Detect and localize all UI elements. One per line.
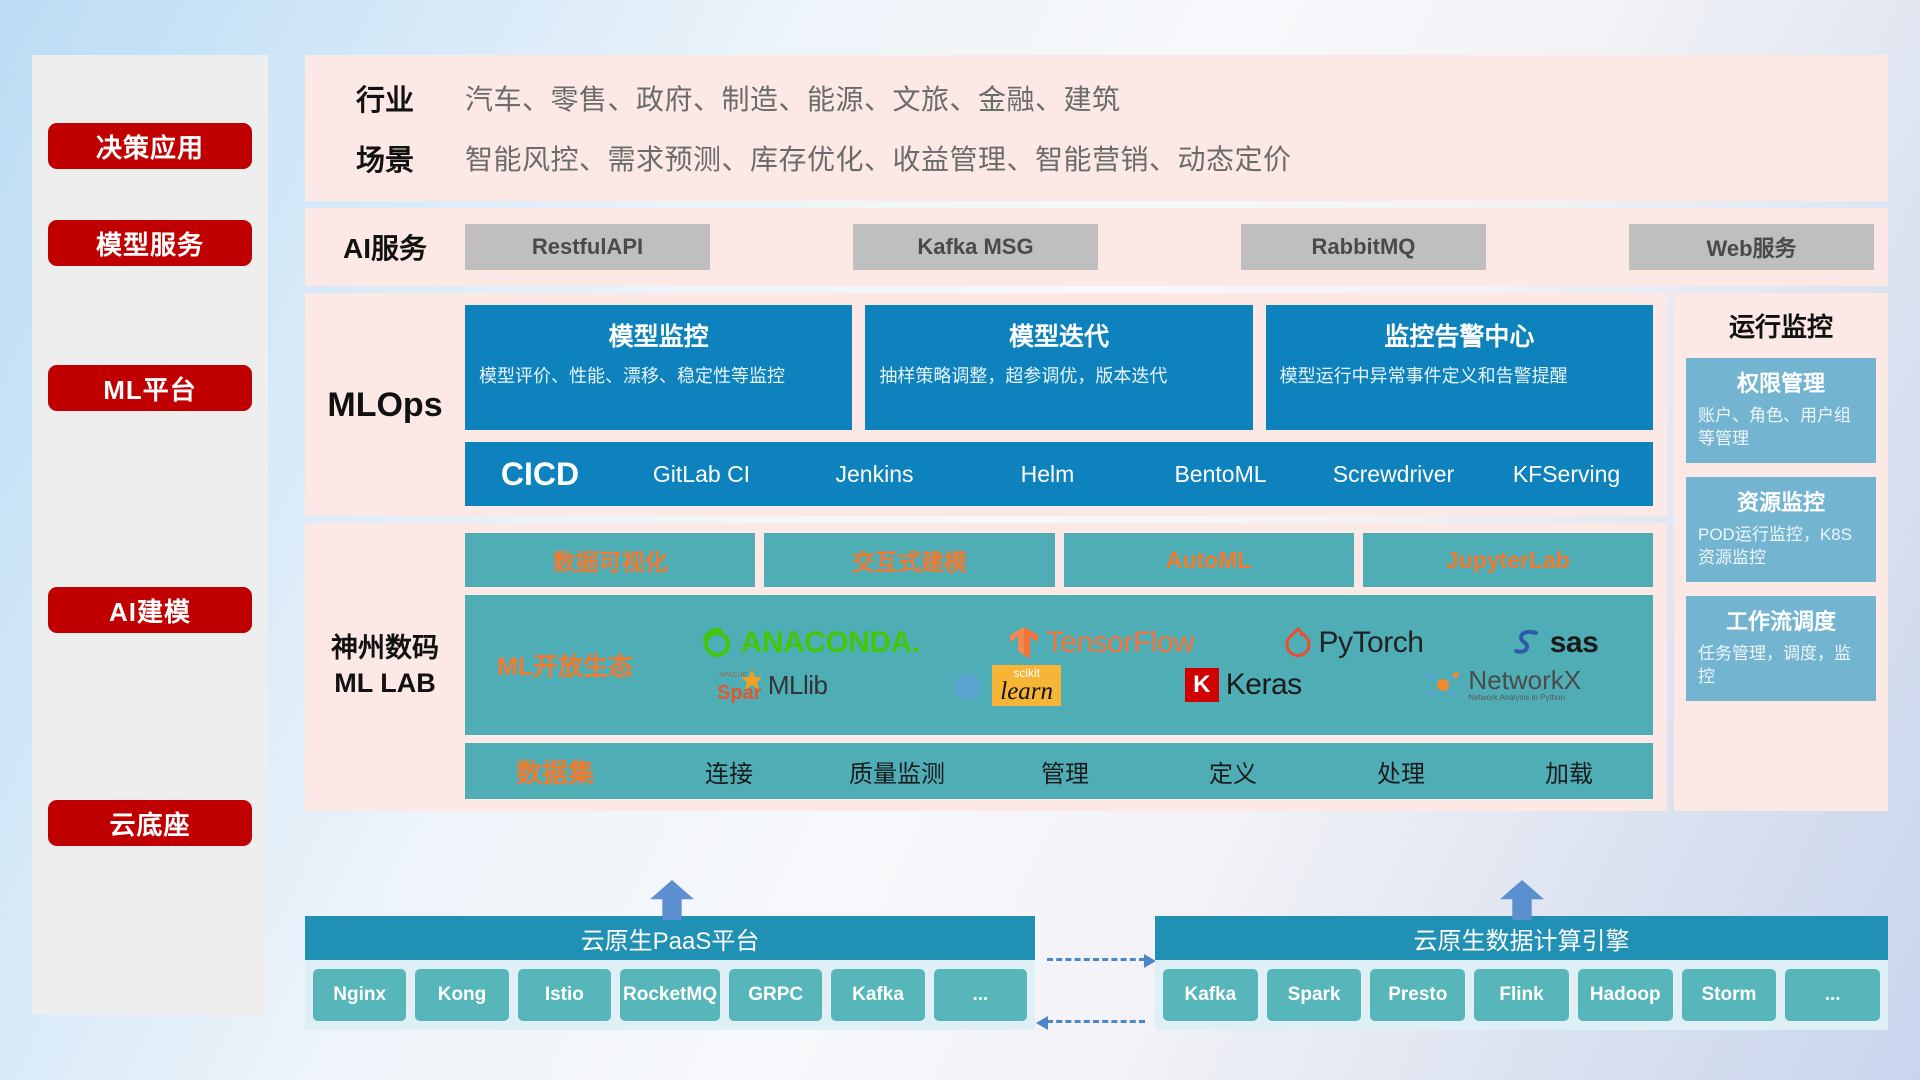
monitor-card-resource[interactable]: 资源监控 POD运行监控，K8S资源监控 <box>1686 477 1876 582</box>
cicd-bar: CICD GitLab CI Jenkins Helm BentoML Scre… <box>465 442 1653 506</box>
ai-service-chip[interactable]: RestfulAPI <box>465 224 710 270</box>
mlops-card-list: 模型监控 模型评价、性能、漂移、稳定性等监控 模型迭代 抽样策略调整，超参调优，… <box>465 305 1653 430</box>
paas-chip[interactable]: ... <box>934 969 1027 1021</box>
tab-automl[interactable]: AutoML <box>1064 533 1354 587</box>
mlops-card[interactable]: 模型监控 模型评价、性能、漂移、稳定性等监控 <box>465 305 852 430</box>
mlops-card-title: 模型监控 <box>479 317 838 353</box>
sas-mark-icon <box>1513 627 1543 659</box>
scikit-learn-logo: scikit learn <box>951 665 1061 706</box>
scikit-blob-icon <box>951 668 985 702</box>
mlops-card[interactable]: 监控告警中心 模型运行中异常事件定义和告警提醒 <box>1266 305 1653 430</box>
cloud-base-section: 云原生PaaS平台 Nginx Kong Istio RocketMQ GRPC… <box>305 880 1888 1060</box>
dataset-bar: 数据集 连接 质量监测 管理 定义 处理 加载 <box>465 743 1653 799</box>
rail-item-ai-modeling[interactable]: AI建模 <box>48 587 252 633</box>
keras-badge-icon: K <box>1185 668 1219 702</box>
monitoring-sidebar: 运行监控 权限管理 账户、角色、用户组等管理 资源监控 POD运行监控，K8S资… <box>1674 293 1888 811</box>
dataset-title: 数据集 <box>465 753 645 790</box>
logo-row-2: APACHE Spark MLlib <box>655 665 1643 706</box>
ml-ecosystem-panel: ML开放生态 ANACONDA. <box>465 595 1653 735</box>
mlops-content: 模型监控 模型评价、性能、漂移、稳定性等监控 模型迭代 抽样策略调整，超参调优，… <box>465 305 1667 506</box>
rail-item-decision-app[interactable]: 决策应用 <box>48 123 252 169</box>
scenario-value: 智能风控、需求预测、库存优化、收益管理、智能营销、动态定价 <box>465 138 1292 178</box>
rail-item-model-service[interactable]: 模型服务 <box>48 220 252 266</box>
data-engine-chip[interactable]: Spark <box>1267 969 1362 1021</box>
paas-title: 云原生PaaS平台 <box>305 916 1035 960</box>
mlops-card-title: 监控告警中心 <box>1280 317 1639 353</box>
paas-chip[interactable]: Kong <box>415 969 508 1021</box>
rail-label: AI建模 <box>109 592 191 629</box>
paas-chip[interactable]: RocketMQ <box>620 969 720 1021</box>
ml-ecosystem-label: ML开放生态 <box>475 647 655 683</box>
spark-mark-icon: APACHE Spark <box>717 667 761 703</box>
ml-lab-band: 神州数码 ML LAB 数据可视化 交互式建模 AutoML JupyterLa… <box>305 523 1667 811</box>
platform-lower-left: MLOps 模型监控 模型评价、性能、漂移、稳定性等监控 模型迭代 抽样策略调整… <box>305 293 1667 811</box>
rail-item-ml-platform[interactable]: ML平台 <box>48 365 252 411</box>
tab-interactive-modeling[interactable]: 交互式建模 <box>764 533 1054 587</box>
rail-label: ML平台 <box>103 370 197 407</box>
keras-logo-text: Keras <box>1226 668 1302 702</box>
ai-service-label: AI服务 <box>305 227 465 267</box>
mlops-card-desc: 抽样策略调整，超参调优，版本迭代 <box>879 363 1238 389</box>
data-engine-chip[interactable]: Presto <box>1370 969 1465 1021</box>
ai-service-chip[interactable]: Kafka MSG <box>853 224 1098 270</box>
pytorch-mark-icon <box>1284 626 1312 660</box>
ml-ecosystem-logo-grid: ANACONDA. TensorFlow <box>655 625 1643 706</box>
ml-lab-label: 神州数码 ML LAB <box>305 533 465 799</box>
cicd-item[interactable]: Jenkins <box>788 462 961 486</box>
tab-data-visualization[interactable]: 数据可视化 <box>465 533 755 587</box>
tensorflow-logo: TensorFlow <box>1009 625 1194 661</box>
ml-lab-content: 数据可视化 交互式建模 AutoML JupyterLab ML开放生态 <box>465 533 1667 799</box>
ai-service-chip[interactable]: Web服务 <box>1629 224 1874 270</box>
cloud-data-engine-group: 云原生数据计算引擎 Kafka Spark Presto Flink Hadoo… <box>1155 916 1888 1030</box>
industry-value: 汽车、零售、政府、制造、能源、文旅、金融、建筑 <box>465 78 1121 118</box>
paas-chip[interactable]: Kafka <box>831 969 924 1021</box>
cicd-title: CICD <box>465 456 615 493</box>
data-engine-chip[interactable]: Flink <box>1474 969 1569 1021</box>
ai-service-chip[interactable]: RabbitMQ <box>1241 224 1486 270</box>
learn-text: learn <box>1000 679 1053 704</box>
data-engine-chip[interactable]: ... <box>1785 969 1880 1021</box>
pytorch-logo-text: PyTorch <box>1319 626 1424 660</box>
ai-service-band: AI服务 RestfulAPI Kafka MSG RabbitMQ Web服务 <box>305 208 1888 286</box>
rail-label: 决策应用 <box>96 128 204 165</box>
paas-chip[interactable]: GRPC <box>729 969 822 1021</box>
paas-chip-list: Nginx Kong Istio RocketMQ GRPC Kafka ... <box>305 960 1035 1030</box>
paas-chip[interactable]: Istio <box>518 969 611 1021</box>
data-to-paas-arrow-icon <box>1047 1020 1145 1023</box>
cicd-item[interactable]: GitLab CI <box>615 462 788 486</box>
cicd-item[interactable]: KFServing <box>1480 462 1653 486</box>
monitor-card-desc: 任务管理，调度，监控 <box>1698 642 1864 689</box>
paas-to-data-arrow-icon <box>1047 958 1145 961</box>
architecture-main: 行业 汽车、零售、政府、制造、能源、文旅、金融、建筑 场景 智能风控、需求预测、… <box>305 55 1888 811</box>
mlops-label: MLOps <box>305 305 465 506</box>
data-engine-chip[interactable]: Hadoop <box>1578 969 1673 1021</box>
data-engine-chip[interactable]: Storm <box>1682 969 1777 1021</box>
layer-rail: 决策应用 模型服务 ML平台 AI建模 云底座 <box>32 55 268 1015</box>
scenario-row: 场景 智能风控、需求预测、库存优化、收益管理、智能营销、动态定价 <box>305 137 1888 179</box>
networkx-logo-tagline: Network Analysis in Python <box>1468 694 1581 702</box>
networkx-mark-icon <box>1425 669 1461 701</box>
dataset-item[interactable]: 处理 <box>1317 754 1485 789</box>
sas-logo-text: sas <box>1550 626 1599 660</box>
networkx-wordmark: NetworkX Network Analysis in Python <box>1468 667 1581 703</box>
dataset-item[interactable]: 连接 <box>645 754 813 789</box>
mlops-card-desc: 模型评价、性能、漂移、稳定性等监控 <box>479 363 838 389</box>
scikit-learn-badge: scikit learn <box>992 665 1061 706</box>
cicd-item[interactable]: Helm <box>961 462 1134 486</box>
paas-up-arrow-icon <box>650 880 694 920</box>
data-engine-title: 云原生数据计算引擎 <box>1155 916 1888 960</box>
anaconda-logo: ANACONDA. <box>700 626 920 660</box>
monitor-card-desc: 账户、角色、用户组等管理 <box>1698 404 1864 451</box>
keras-badge-letter: K <box>1193 671 1210 699</box>
ml-lab-label-line2: ML LAB <box>331 666 439 701</box>
monitoring-title: 运行监控 <box>1686 307 1876 344</box>
ml-lab-label-line1: 神州数码 <box>331 631 439 666</box>
industry-scenario-band: 行业 汽车、零售、政府、制造、能源、文旅、金融、建筑 场景 智能风控、需求预测、… <box>305 55 1888 201</box>
tensorflow-mark-icon <box>1009 625 1039 661</box>
networkx-logo: NetworkX Network Analysis in Python <box>1425 667 1581 703</box>
industry-key: 行业 <box>305 77 465 119</box>
monitor-card-title: 工作流调度 <box>1698 604 1864 636</box>
paas-chip[interactable]: Nginx <box>313 969 406 1021</box>
data-engine-chip[interactable]: Kafka <box>1163 969 1258 1021</box>
networkx-logo-text: NetworkX <box>1468 667 1581 694</box>
sas-logo: sas <box>1513 626 1599 660</box>
monitoring-panel: 运行监控 权限管理 账户、角色、用户组等管理 资源监控 POD运行监控，K8S资… <box>1674 293 1888 811</box>
anaconda-logo-text: ANACONDA. <box>741 626 920 660</box>
monitor-card-desc: POD运行监控，K8S资源监控 <box>1698 523 1864 570</box>
dataset-item[interactable]: 加载 <box>1485 754 1653 789</box>
cloud-paas-group: 云原生PaaS平台 Nginx Kong Istio RocketMQ GRPC… <box>305 916 1035 1030</box>
monitor-card-title: 权限管理 <box>1698 366 1864 398</box>
dataset-item[interactable]: 管理 <box>981 754 1149 789</box>
ml-lab-tab-list: 数据可视化 交互式建模 AutoML JupyterLab <box>465 533 1653 587</box>
mllib-logo-text: MLlib <box>768 670 828 701</box>
mlops-card[interactable]: 模型迭代 抽样策略调整，超参调优，版本迭代 <box>865 305 1252 430</box>
anaconda-mark-icon <box>700 626 734 660</box>
logo-row-1: ANACONDA. TensorFlow <box>655 625 1643 661</box>
dataset-item[interactable]: 质量监测 <box>813 754 981 789</box>
rail-item-cloud-base[interactable]: 云底座 <box>48 800 252 846</box>
mlops-band: MLOps 模型监控 模型评价、性能、漂移、稳定性等监控 模型迭代 抽样策略调整… <box>305 293 1667 516</box>
data-engine-up-arrow-icon <box>1500 880 1544 920</box>
platform-lower-section: MLOps 模型监控 模型评价、性能、漂移、稳定性等监控 模型迭代 抽样策略调整… <box>305 293 1888 811</box>
monitor-card-permission[interactable]: 权限管理 账户、角色、用户组等管理 <box>1686 358 1876 463</box>
rail-label: 模型服务 <box>96 225 204 262</box>
spark-mllib-logo: APACHE Spark MLlib <box>717 667 828 703</box>
tensorflow-logo-text: TensorFlow <box>1046 626 1194 660</box>
cicd-item[interactable]: Screwdriver <box>1307 462 1480 486</box>
mlops-card-desc: 模型运行中异常事件定义和告警提醒 <box>1280 363 1639 389</box>
scenario-key: 场景 <box>305 137 465 179</box>
cicd-item[interactable]: BentoML <box>1134 462 1307 486</box>
pytorch-logo: PyTorch <box>1284 626 1424 660</box>
scikit-text: scikit <box>1000 667 1053 679</box>
data-engine-chip-list: Kafka Spark Presto Flink Hadoop Storm ..… <box>1155 960 1888 1030</box>
monitor-card-title: 资源监控 <box>1698 485 1864 517</box>
monitor-card-workflow[interactable]: 工作流调度 任务管理，调度，监控 <box>1686 596 1876 701</box>
ai-service-chip-list: RestfulAPI Kafka MSG RabbitMQ Web服务 <box>465 224 1888 270</box>
dataset-item[interactable]: 定义 <box>1149 754 1317 789</box>
mlops-card-title: 模型迭代 <box>879 317 1238 353</box>
keras-logo: K Keras <box>1185 668 1302 702</box>
tab-jupyterlab[interactable]: JupyterLab <box>1363 533 1653 587</box>
rail-label: 云底座 <box>109 805 190 842</box>
industry-row: 行业 汽车、零售、政府、制造、能源、文旅、金融、建筑 <box>305 77 1888 119</box>
